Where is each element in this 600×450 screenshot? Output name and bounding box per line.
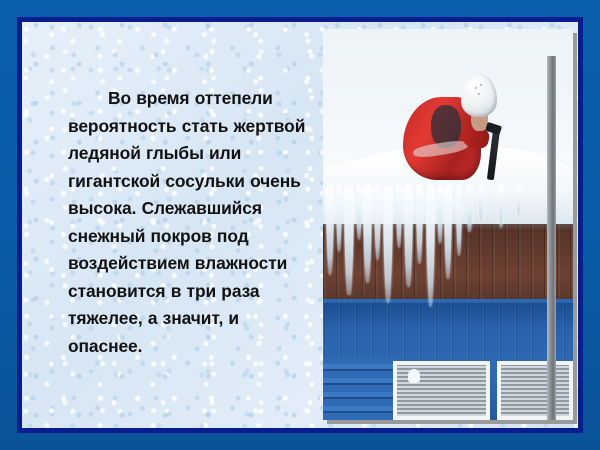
worker-helmet	[461, 74, 497, 118]
slide-canvas: Во время оттепели вероятность стать жерт…	[22, 22, 578, 428]
window-blinds	[501, 365, 569, 416]
photo-container	[323, 29, 573, 420]
helmet-vent	[478, 93, 480, 95]
photo-image	[323, 29, 573, 420]
helmet-vent	[475, 87, 477, 89]
photo-blue-roof-panel	[323, 357, 398, 420]
slide: Во время оттепели вероятность стать жерт…	[0, 0, 600, 450]
window-snow-patch	[408, 369, 420, 382]
photo-window-right	[497, 361, 573, 420]
photo-window-left	[393, 361, 490, 420]
icicle	[356, 185, 362, 240]
photo-worker	[403, 60, 503, 193]
photo-gray-pole	[547, 56, 556, 420]
helmet-vent	[480, 84, 482, 86]
slide-body-text: Во время оттепели вероятность стать жерт…	[68, 85, 316, 360]
icicle	[516, 185, 521, 216]
